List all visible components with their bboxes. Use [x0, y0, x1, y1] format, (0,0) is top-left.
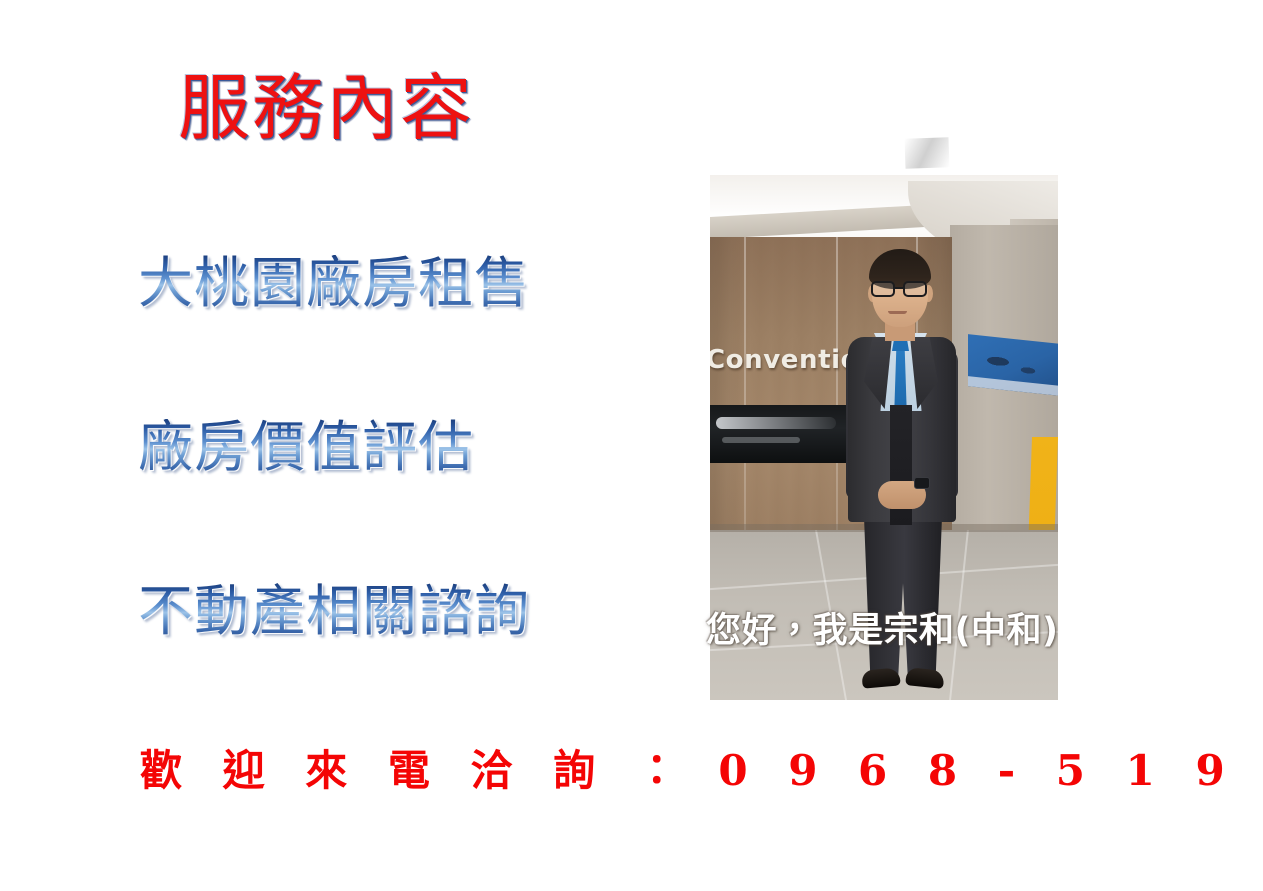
lens [871, 281, 895, 297]
wristwatch [914, 477, 930, 489]
poster-artwork [980, 349, 1046, 382]
service-item-factory-rent-sale: 大桃園廠房租售 [138, 255, 698, 313]
service-item-factory-valuation: 廠房價值評估 [138, 419, 698, 477]
mouth [888, 311, 907, 314]
glasses-bridge [895, 287, 905, 289]
trousers [864, 517, 942, 675]
blue-poster [968, 334, 1058, 396]
light-streak-artifact [904, 137, 949, 169]
lens [903, 281, 927, 297]
contact-phone-line: 歡 迎 來 電 洽 詢 ： 0 9 6 8 - 5 1 9 - 8 8 8 [140, 748, 1263, 794]
service-list: 大桃園廠房租售 廠房價值評估 不動產相關諮詢 [138, 255, 698, 640]
service-item-realestate-consulting: 不動產相關諮詢 [138, 583, 698, 641]
counter-glare [722, 437, 800, 443]
page-title: 服務內容 [178, 72, 474, 144]
counter-glare [716, 417, 836, 429]
eyeglasses-icon [870, 281, 930, 298]
photo-caption: 您好，我是宗和(中和) [706, 612, 1059, 651]
right-shoe [905, 667, 945, 689]
left-shoe [861, 667, 900, 688]
presentation-slide: 服務內容 大桃園廠房租售 廠房價值評估 不動產相關諮詢 Convention C… [0, 0, 1263, 891]
